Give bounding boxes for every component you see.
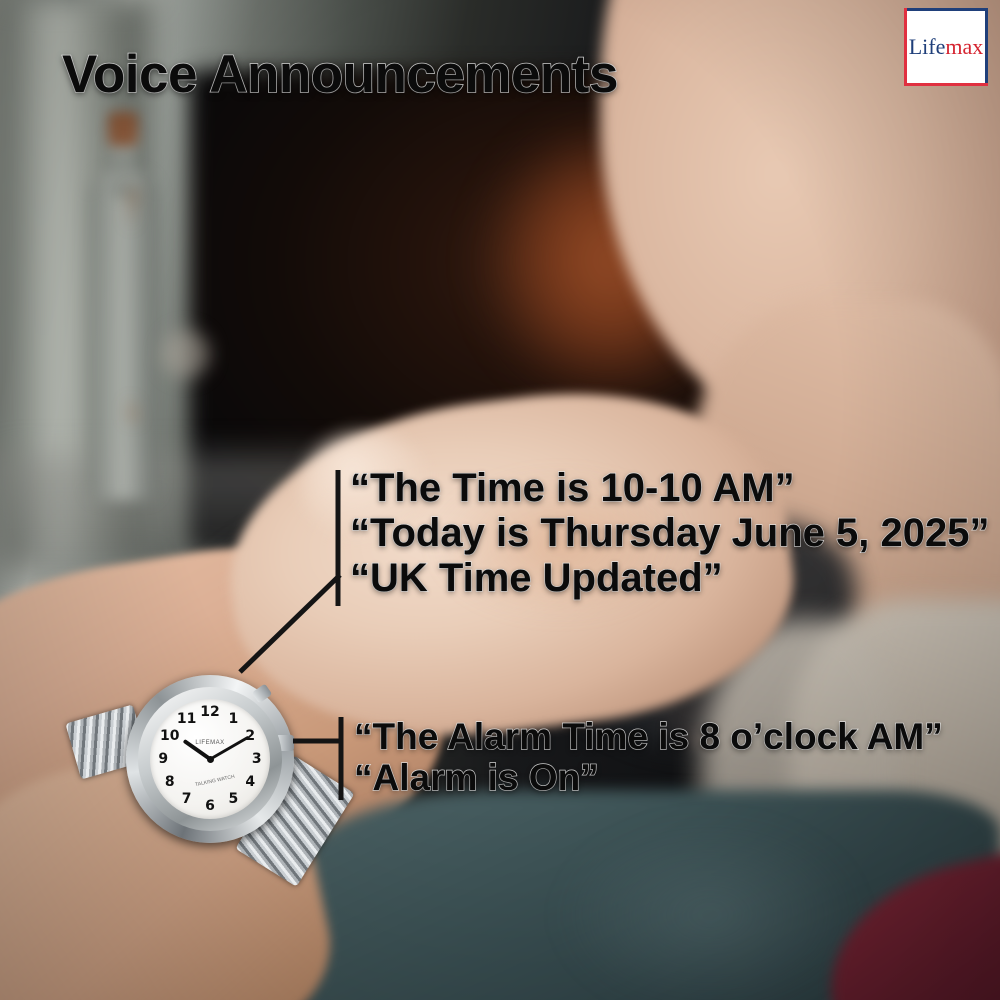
talking-watch: LIFEMAX TALKING WATCH 12 1 2 3 4 5 6 7 8… xyxy=(108,655,304,860)
logo-wordmark: Lifemax xyxy=(904,36,988,58)
watch-numeral-9: 9 xyxy=(158,752,168,766)
logo-word-life: Life xyxy=(909,34,946,59)
watch-numeral-3: 3 xyxy=(252,752,262,766)
watch-bezel: LIFEMAX TALKING WATCH 12 1 2 3 4 5 6 7 8… xyxy=(138,687,282,831)
watch-numeral-4: 4 xyxy=(245,775,255,789)
watch-center-pin xyxy=(207,756,214,763)
callout-time-line-2: “Today is Thursday June 5, 2025” xyxy=(350,511,990,556)
watch-sub-label: TALKING WATCH xyxy=(195,774,236,788)
logo-border-bottom xyxy=(904,83,988,86)
watch-numeral-12: 12 xyxy=(200,705,219,719)
lifemax-logo[interactable]: Lifemax xyxy=(904,8,988,86)
poster-canvas: LIFEMAX TALKING WATCH 12 1 2 3 4 5 6 7 8… xyxy=(0,0,1000,1000)
callout-time-line-3: “UK Time Updated” xyxy=(350,556,723,601)
watch-numeral-8: 8 xyxy=(165,775,175,789)
logo-word-max: max xyxy=(945,34,983,59)
watch-numeral-6: 6 xyxy=(205,799,215,813)
watch-pusher-button[interactable] xyxy=(252,684,273,704)
callout-alarm-line-1: “The Alarm Time is 8 o’clock AM” xyxy=(354,716,943,758)
watch-dial: LIFEMAX TALKING WATCH 12 1 2 3 4 5 6 7 8… xyxy=(150,699,270,819)
watch-case: LIFEMAX TALKING WATCH 12 1 2 3 4 5 6 7 8… xyxy=(126,675,294,843)
callout-time-line-1: “The Time is 10-10 AM” xyxy=(350,466,795,511)
watch-numeral-1: 1 xyxy=(229,712,239,726)
callout-alarm-line-2: “Alarm is On” xyxy=(354,757,599,799)
page-title: Voice Announcements xyxy=(62,44,618,105)
watch-numeral-5: 5 xyxy=(229,792,239,806)
watch-brand-label: LIFEMAX xyxy=(195,740,224,746)
watch-numeral-7: 7 xyxy=(182,792,192,806)
watch-numeral-11: 11 xyxy=(177,712,196,726)
watch-numeral-10: 10 xyxy=(160,729,179,743)
logo-border-top xyxy=(904,8,988,11)
